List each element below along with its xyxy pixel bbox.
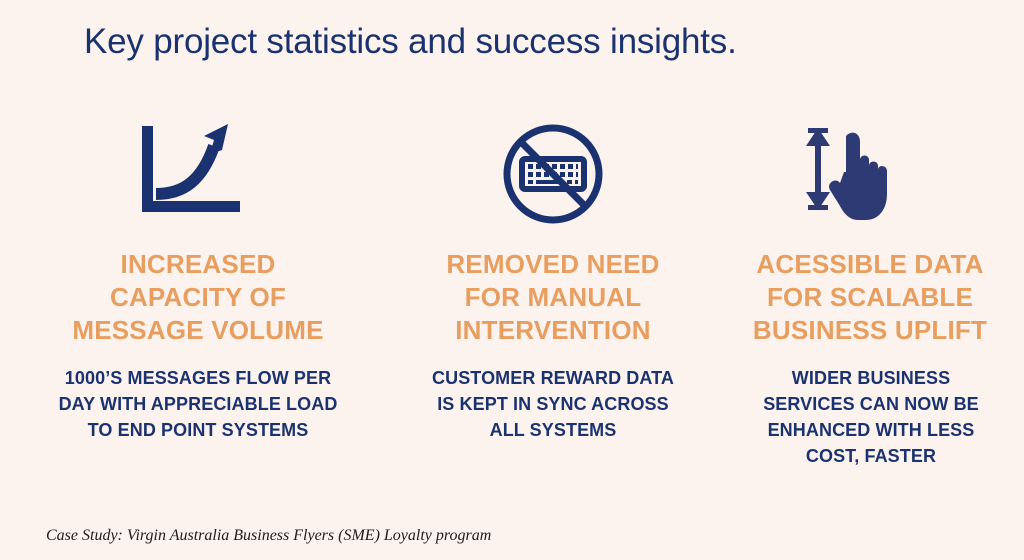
stat-heading-2-line-3: INTERVENTION — [446, 314, 659, 347]
stat-body-3-line-2: SERVICES CAN NOW BE — [763, 391, 979, 417]
stat-heading-3-line-3: BUSINESS UPLIFT — [753, 314, 987, 347]
stat-body-1-line-1: 1000’S MESSAGES FLOW PER — [59, 365, 338, 391]
stat-body-3-line-3: ENHANCED WITH LESS — [763, 417, 979, 443]
stat-body-2: CUSTOMER REWARD DATA IS KEPT IN SYNC ACR… — [432, 365, 674, 443]
stat-heading-3: ACESSIBLE DATA FOR SCALABLE BUSINESS UPL… — [753, 248, 987, 347]
hand-pointer-resize-arrow-icon — [794, 118, 906, 230]
stat-body-3-line-1: WIDER BUSINESS — [763, 365, 979, 391]
growth-chart-arrow-icon — [140, 118, 244, 230]
statistics-columns: INCREASED CAPACITY OF MESSAGE VOLUME 100… — [0, 118, 1024, 469]
stat-body-3-line-4: COST, FASTER — [763, 443, 979, 469]
stat-body-2-line-1: CUSTOMER REWARD DATA — [432, 365, 674, 391]
stat-body-1-line-2: DAY WITH APPRECIABLE LOAD — [59, 391, 338, 417]
stat-heading-1-line-3: MESSAGE VOLUME — [72, 314, 323, 347]
stat-column-2: REMOVED NEED FOR MANUAL INTERVENTION CUS… — [388, 118, 718, 443]
stat-heading-2-line-1: REMOVED NEED — [446, 248, 659, 281]
stat-body-1-line-3: TO END POINT SYSTEMS — [59, 417, 338, 443]
stat-column-1: INCREASED CAPACITY OF MESSAGE VOLUME 100… — [8, 118, 388, 443]
no-keyboard-prohibited-icon — [501, 118, 605, 230]
stat-heading-2-line-2: FOR MANUAL — [446, 281, 659, 314]
stat-column-3: ACESSIBLE DATA FOR SCALABLE BUSINESS UPL… — [726, 118, 1016, 469]
stat-heading-3-line-1: ACESSIBLE DATA — [753, 248, 987, 281]
case-study-caption: Case Study: Virgin Australia Business Fl… — [46, 527, 491, 545]
stat-body-1: 1000’S MESSAGES FLOW PER DAY WITH APPREC… — [59, 365, 338, 443]
stat-heading-3-line-2: FOR SCALABLE — [753, 281, 987, 314]
stat-heading-2: REMOVED NEED FOR MANUAL INTERVENTION — [446, 248, 659, 347]
stat-heading-1-line-1: INCREASED — [72, 248, 323, 281]
stat-body-2-line-2: IS KEPT IN SYNC ACROSS — [432, 391, 674, 417]
stat-heading-1: INCREASED CAPACITY OF MESSAGE VOLUME — [72, 248, 323, 347]
page-title: Key project statistics and success insig… — [84, 20, 737, 64]
slide-canvas: Key project statistics and success insig… — [0, 0, 1024, 560]
stat-heading-1-line-2: CAPACITY OF — [72, 281, 323, 314]
stat-body-2-line-3: ALL SYSTEMS — [432, 417, 674, 443]
stat-body-3: WIDER BUSINESS SERVICES CAN NOW BE ENHAN… — [763, 365, 979, 469]
